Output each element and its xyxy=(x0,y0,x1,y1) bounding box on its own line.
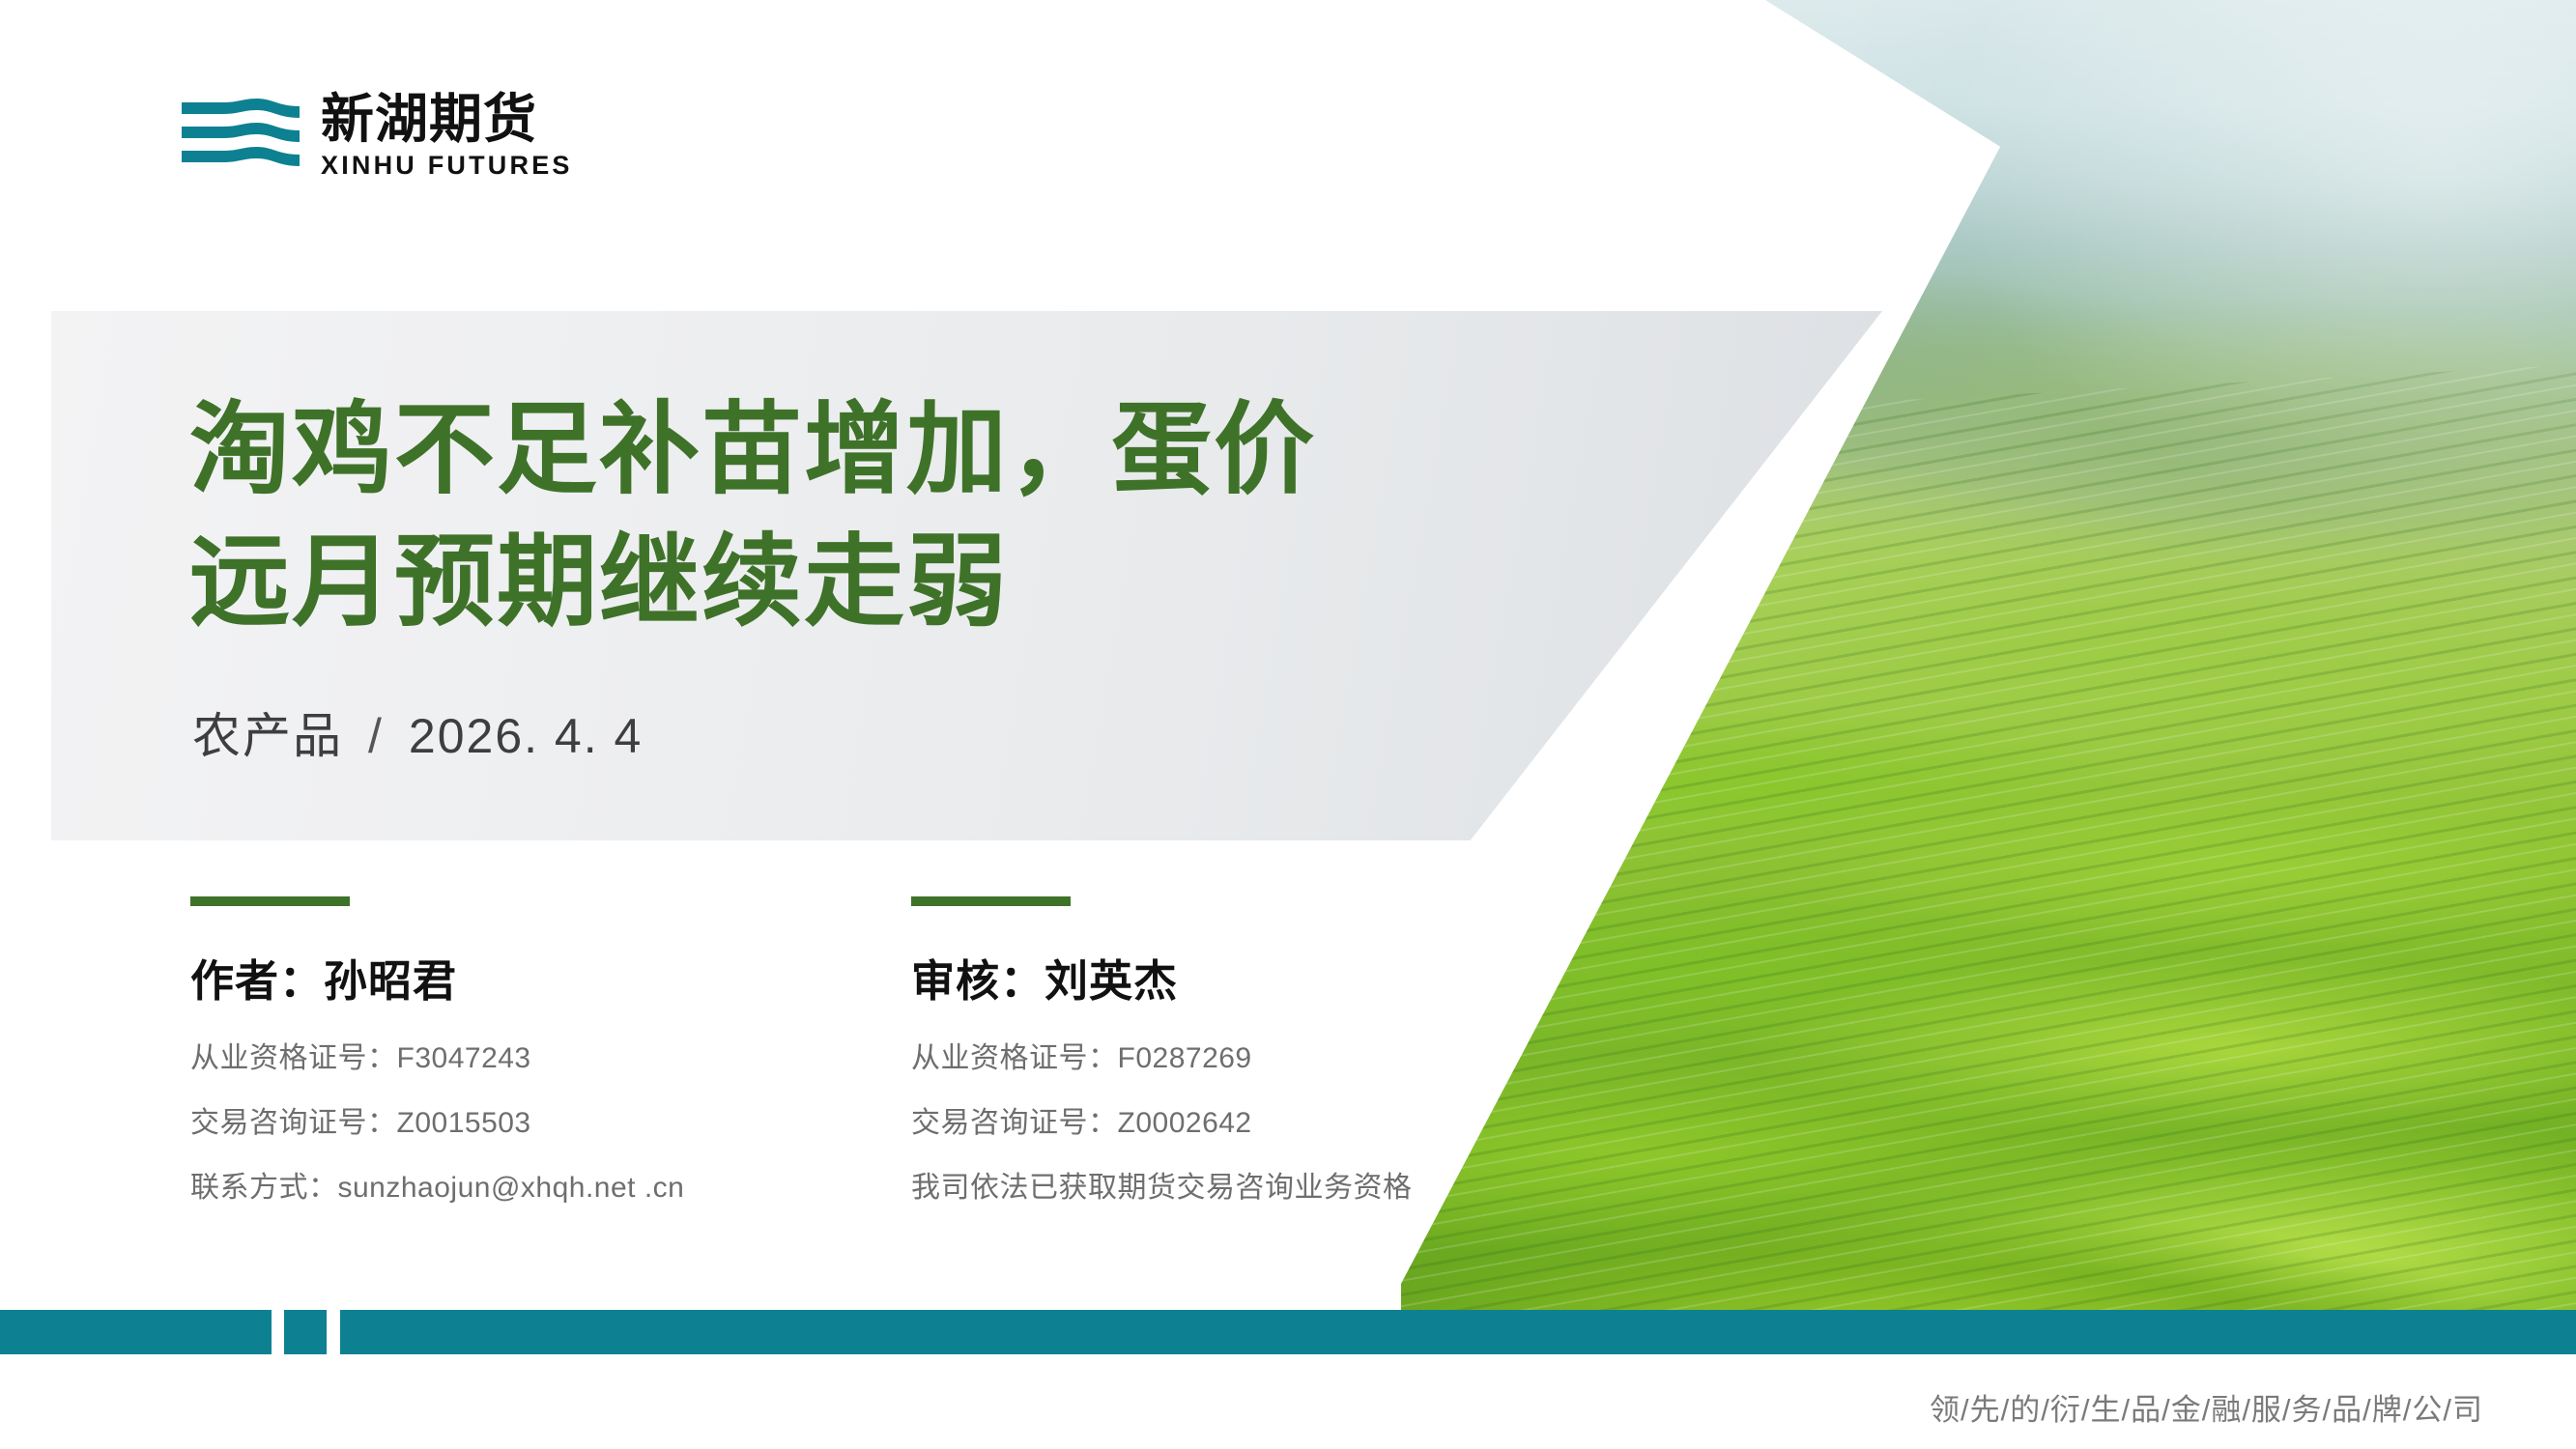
reviewer-consulting-number: 交易咨询证号：Z0002642 xyxy=(911,1098,1413,1141)
author-contact: 联系方式：sunzhaojun@xhqh.net .cn xyxy=(190,1163,684,1206)
page-title-line-2: 远月预期继续走弱 xyxy=(189,517,1697,649)
brand-logo: 新湖期货 XINHU FUTURES xyxy=(182,93,573,179)
reviewer-name: 审核：刘英杰 xyxy=(911,946,1413,1009)
wave-logo-icon xyxy=(182,99,300,174)
author-qualification-number: 从业资格证号：F3047243 xyxy=(190,1034,684,1076)
subtitle-date: 2026. 4. 4 xyxy=(409,709,643,763)
reviewer-statement: 我司依法已获取期货交易咨询业务资格 xyxy=(911,1163,1413,1206)
subtitle-separator: / xyxy=(368,709,384,763)
page-title-line-1: 淘鸡不足补苗增加，蛋价 xyxy=(189,384,1697,517)
page-title: 淘鸡不足补苗增加，蛋价 远月预期继续走弱 xyxy=(189,384,1697,650)
footer-bar-segment-tick xyxy=(284,1310,327,1354)
brand-name-en: XINHU FUTURES xyxy=(321,153,573,179)
page-subtitle: 农产品/2026. 4. 4 xyxy=(192,697,643,767)
reviewer-accent-rule xyxy=(911,896,1071,906)
footer-bar-segment-left xyxy=(0,1310,272,1354)
reviewer-block: 审核：刘英杰 从业资格证号：F0287269 交易咨询证号：Z0002642 我… xyxy=(911,896,1413,1228)
author-block: 作者：孙昭君 从业资格证号：F3047243 交易咨询证号：Z0015503 联… xyxy=(190,896,684,1228)
brand-logo-text: 新湖期货 XINHU FUTURES xyxy=(321,93,573,179)
footer-tagline: 领/先/的/衍/生/品/金/融/服/务/品/牌/公/司 xyxy=(1930,1385,2483,1429)
author-consulting-number: 交易咨询证号：Z0015503 xyxy=(190,1098,684,1141)
brand-name-cn: 新湖期货 xyxy=(321,93,573,146)
footer-bar-segment-right xyxy=(340,1310,2576,1354)
author-name: 作者：孙昭君 xyxy=(190,946,684,1009)
author-accent-rule xyxy=(190,896,350,906)
slide-root: 新湖期货 XINHU FUTURES 淘鸡不足补苗增加，蛋价 远月预期继续走弱 … xyxy=(0,0,2576,1449)
subtitle-category: 农产品 xyxy=(192,709,343,763)
reviewer-qualification-number: 从业资格证号：F0287269 xyxy=(911,1034,1413,1076)
